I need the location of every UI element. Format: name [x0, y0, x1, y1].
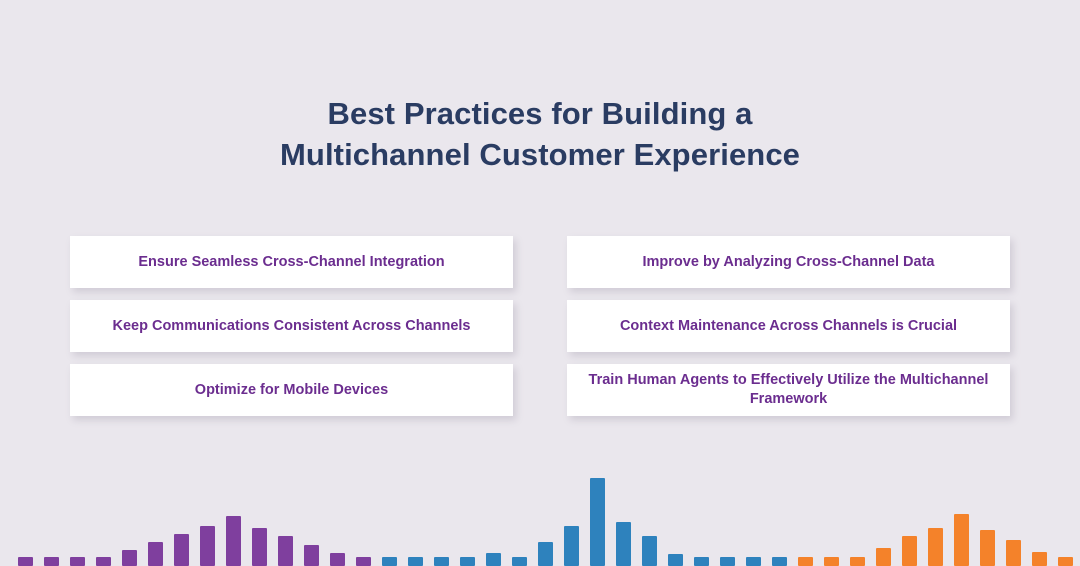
chart-bar [434, 557, 449, 566]
chart-bar [1058, 557, 1073, 566]
chart-bar [538, 542, 553, 566]
practice-card[interactable]: Improve by Analyzing Cross-Channel Data [567, 236, 1010, 288]
practice-card-label: Context Maintenance Across Channels is C… [620, 317, 957, 336]
practice-card-label: Optimize for Mobile Devices [195, 381, 388, 400]
chart-bar [226, 516, 241, 566]
practice-card-label: Train Human Agents to Effectively Utiliz… [581, 371, 996, 409]
chart-bar [382, 557, 397, 566]
chart-bar [44, 557, 59, 566]
chart-bar [148, 542, 163, 566]
card-column-right: Improve by Analyzing Cross-Channel Data … [567, 236, 1010, 416]
page-title: Best Practices for Building a Multichann… [0, 93, 1080, 175]
chart-bar [954, 514, 969, 566]
chart-bar [122, 550, 137, 566]
chart-bar [980, 530, 995, 566]
chart-bar [590, 478, 605, 566]
practice-card[interactable]: Context Maintenance Across Channels is C… [567, 300, 1010, 352]
chart-bar [902, 536, 917, 566]
practice-card-label: Improve by Analyzing Cross-Channel Data [643, 253, 935, 272]
chart-bar [304, 545, 319, 566]
chart-bar [18, 557, 33, 566]
page-title-line-2: Multichannel Customer Experience [0, 134, 1080, 175]
chart-bar [850, 557, 865, 566]
practice-card[interactable]: Ensure Seamless Cross-Channel Integratio… [70, 236, 513, 288]
chart-bar [668, 554, 683, 566]
chart-bar [772, 557, 787, 566]
best-practices-card-grid: Ensure Seamless Cross-Channel Integratio… [70, 236, 1010, 416]
chart-bar [356, 557, 371, 566]
chart-bar [694, 557, 709, 566]
chart-bar [642, 536, 657, 566]
chart-bar [564, 526, 579, 566]
chart-bar [798, 557, 813, 566]
chart-bar [512, 557, 527, 566]
practice-card[interactable]: Keep Communications Consistent Across Ch… [70, 300, 513, 352]
card-column-left: Ensure Seamless Cross-Channel Integratio… [70, 236, 513, 416]
chart-bar [876, 548, 891, 566]
decorative-bar-chart [0, 446, 1080, 566]
slide-root: Best Practices for Building a Multichann… [0, 0, 1080, 566]
chart-bar [174, 534, 189, 566]
chart-bar [746, 557, 761, 566]
chart-bar [252, 528, 267, 566]
chart-bar [408, 557, 423, 566]
chart-bar [1006, 540, 1021, 566]
chart-bar [824, 557, 839, 566]
chart-bar [720, 557, 735, 566]
practice-card[interactable]: Train Human Agents to Effectively Utiliz… [567, 364, 1010, 416]
chart-bar [616, 522, 631, 566]
practice-card-label: Keep Communications Consistent Across Ch… [112, 317, 470, 336]
chart-bar [486, 553, 501, 566]
page-title-line-1: Best Practices for Building a [0, 93, 1080, 134]
chart-bar [96, 557, 111, 566]
practice-card[interactable]: Optimize for Mobile Devices [70, 364, 513, 416]
chart-bar [330, 553, 345, 566]
chart-bar [928, 528, 943, 566]
practice-card-label: Ensure Seamless Cross-Channel Integratio… [138, 253, 444, 272]
chart-bar [460, 557, 475, 566]
chart-bar [278, 536, 293, 566]
chart-bar [70, 557, 85, 566]
chart-bar [1032, 552, 1047, 566]
chart-bar [200, 526, 215, 566]
